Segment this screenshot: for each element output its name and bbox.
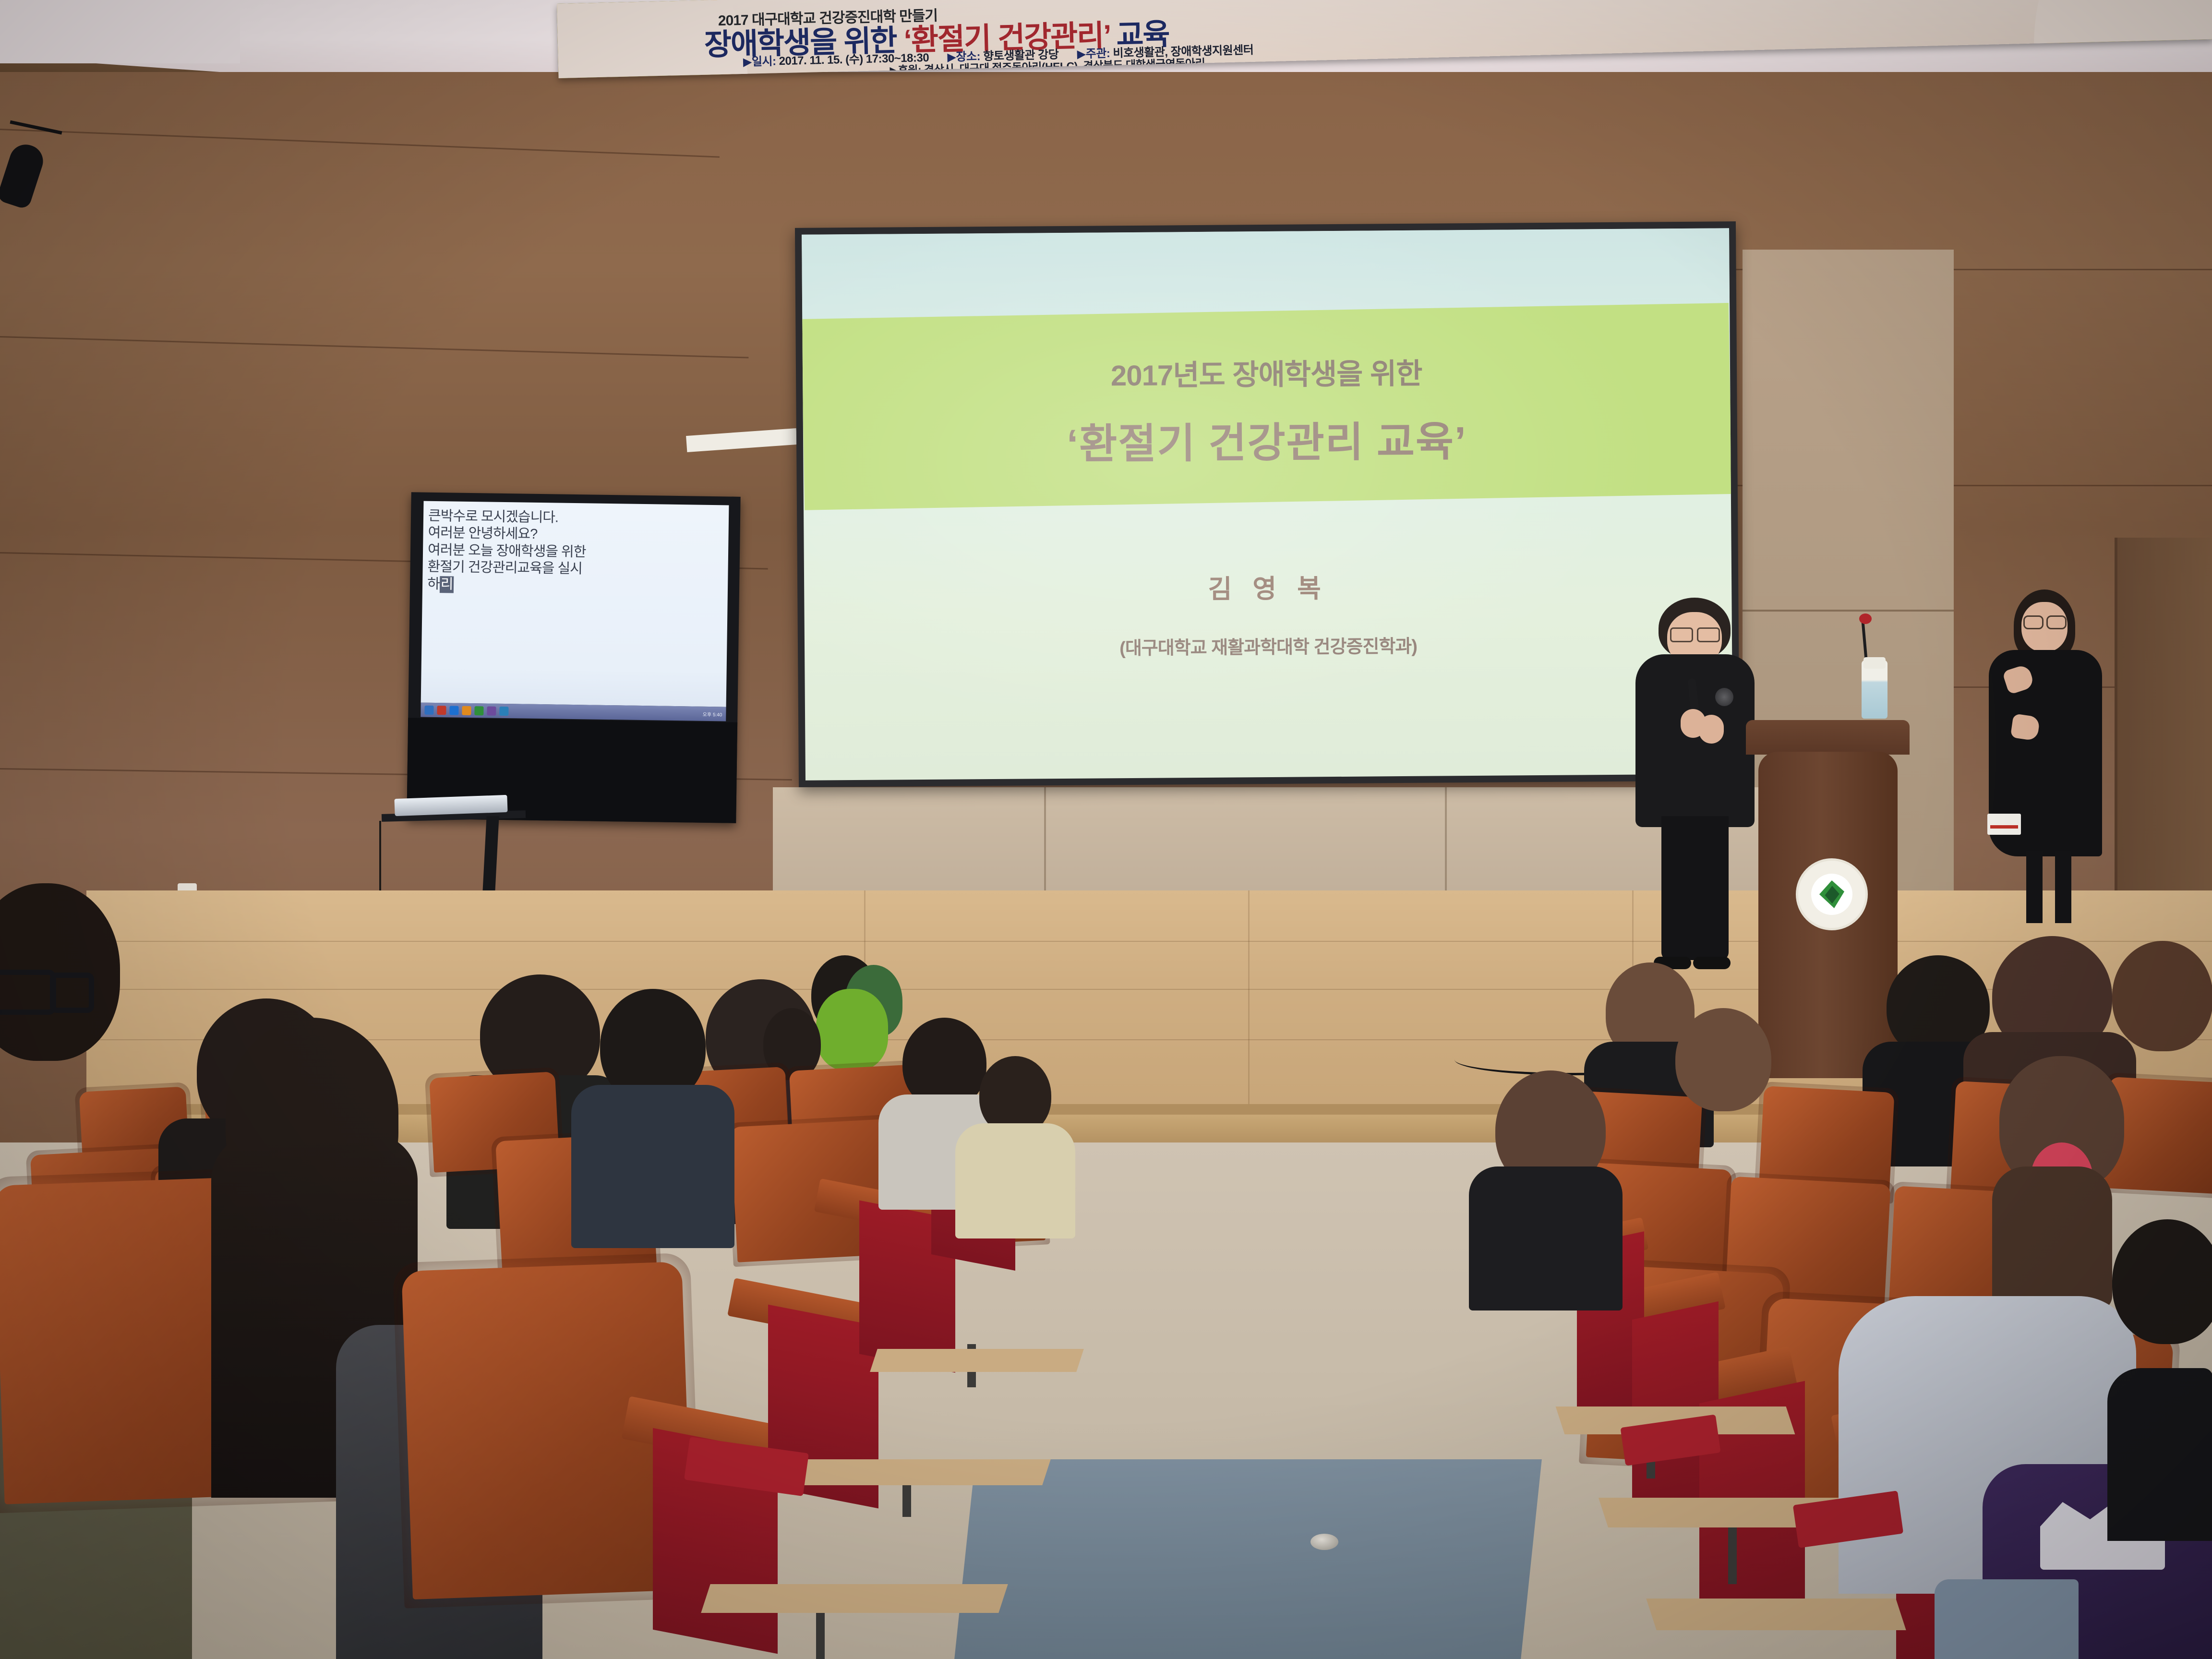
text-caret: 리 (440, 576, 454, 593)
seat-leg (816, 1608, 825, 1659)
interpreter-leg-right (2055, 851, 2071, 923)
aisle-carpet (954, 1459, 1542, 1659)
audience-shoulders (571, 1085, 734, 1248)
glasses-right-lens (1697, 627, 1720, 642)
projection-screen: 2017년도 장애학생을 위한 ‘환절기 건강관리 교육’ 김 영 복 (대구대… (802, 228, 1733, 780)
wall-panel-light (773, 787, 1762, 907)
taskbar-icon-3[interactable] (449, 706, 458, 715)
taskbar-icon-4[interactable] (462, 706, 471, 715)
glasses-right-lens (50, 973, 94, 1013)
wall-notice-sign (1987, 814, 2021, 835)
lectern-podium (1755, 720, 1901, 1075)
audience-head (2112, 941, 2212, 1051)
audience-jeans (1935, 1579, 2079, 1659)
audience-head (1675, 1008, 1771, 1111)
interpreter-leg-left (2026, 851, 2043, 923)
taskbar-clock[interactable]: 오후 5:40 (703, 710, 722, 718)
glasses-icon (0, 970, 101, 1008)
riser-step (793, 1459, 1051, 1485)
seat-leg (1728, 1527, 1737, 1584)
auditorium-scene: 2017 대구대학교 건강증진대학 만들기 장애학생을 위한 ‘환절기 건강관리… (0, 0, 2212, 1659)
gooseneck-microphone-head (1859, 613, 1872, 624)
glasses-left-lens (2023, 615, 2044, 629)
taskbar-icon-7[interactable] (499, 706, 508, 715)
glasses-left-lens (1670, 627, 1693, 642)
riser-step (701, 1584, 1008, 1613)
glasses-icon (2023, 615, 2067, 627)
presenter-brooch (1715, 688, 1733, 706)
audience-head-green-hair (816, 989, 888, 1070)
bottle-cap (1863, 657, 1886, 669)
presenter-legs (1661, 816, 1729, 960)
audience-ponytail (1992, 1166, 2112, 1310)
taskbar-icon-1[interactable] (424, 705, 433, 714)
presenter-shoe-right (1693, 957, 1731, 969)
caption-line-5: 하리 (422, 576, 728, 597)
slide-line2: ‘환절기 건강관리 교육’ (803, 406, 1731, 472)
audience-head (2112, 1219, 2212, 1344)
riser-step (1646, 1599, 1906, 1630)
glasses-left-lens (0, 970, 56, 1015)
glasses-icon (1670, 627, 1720, 640)
sign-stripe (1990, 825, 2018, 829)
wall-seam (1445, 787, 1447, 907)
podium-top (1746, 720, 1910, 755)
emblem-inner (1811, 874, 1852, 915)
water-bottle[interactable] (1862, 660, 1887, 719)
taskbar-icon-5[interactable] (474, 706, 483, 715)
university-emblem (1796, 858, 1868, 930)
taskbar-icon-2[interactable] (437, 706, 446, 715)
projection-screen-frame: 2017년도 장애학생을 위한 ‘환절기 건강관리 교육’ 김 영 복 (대구대… (795, 221, 1740, 787)
slide-line1: 2017년도 장애학생을 위한 (803, 348, 1731, 396)
banner-date-label: ▶일시: (743, 55, 776, 69)
floor-stud (1310, 1534, 1338, 1550)
caption-monitor: 큰박수로 모시겠습니다. 여러분 안녕하세요? 여러분 오늘 장애학생을 위한 … (407, 492, 740, 823)
sign-language-interpreter (2014, 589, 2124, 935)
audience-shoulders (1469, 1166, 1623, 1310)
audience-dark-jacket (2107, 1368, 2212, 1541)
ceiling-panel (0, 0, 240, 63)
podium-body (1758, 752, 1898, 1078)
slide-presenter-affiliation: (대구대학교 재활과학대학 건강증진학과) (805, 629, 1732, 661)
riser-step (870, 1349, 1084, 1372)
glasses-right-lens (2046, 615, 2067, 629)
stage-plank (1248, 890, 1250, 1116)
wall-seam (1044, 787, 1046, 907)
audience-shoulders (955, 1123, 1075, 1238)
presenter-hand-right (1699, 715, 1724, 744)
taskbar-icon-6[interactable] (487, 706, 496, 715)
caption-monitor-screen: 큰박수로 모시겠습니다. 여러분 안녕하세요? 여러분 오늘 장애학생을 위한 … (421, 501, 729, 707)
slide-presenter-name: 김 영 복 (804, 564, 1732, 608)
